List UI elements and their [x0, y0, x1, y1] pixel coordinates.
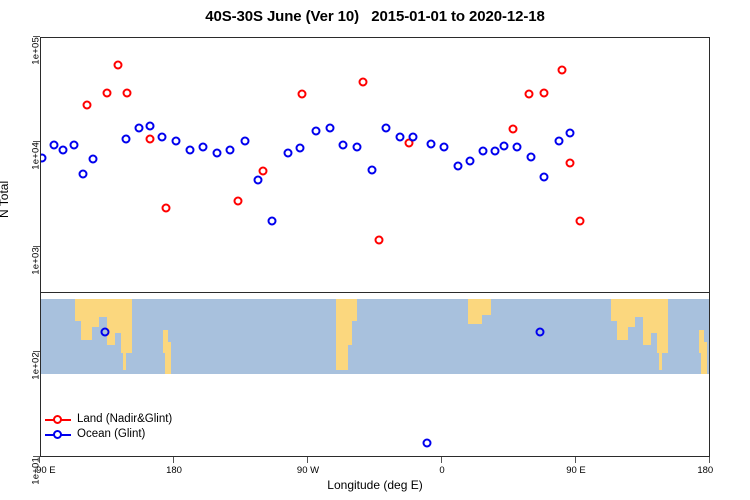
data-point-land: [565, 158, 574, 167]
data-point-ocean: [312, 127, 321, 136]
data-point-ocean: [465, 156, 474, 165]
x-tick-mark: [441, 457, 442, 463]
data-point-land: [297, 90, 306, 99]
data-point-land: [358, 78, 367, 87]
x-tick-label: 180: [166, 465, 182, 476]
landmass-shape: [165, 342, 171, 374]
data-point-land: [258, 167, 267, 176]
data-point-ocean: [157, 132, 166, 141]
data-point-ocean: [121, 134, 130, 143]
x-tick-label: 180: [697, 465, 713, 476]
x-tick-mark: [307, 457, 308, 463]
x-tick-label: 90 E: [36, 465, 56, 476]
legend-label-ocean: Ocean (Glint): [77, 427, 145, 442]
data-point-land: [233, 197, 242, 206]
x-tick-mark: [39, 457, 40, 463]
data-point-ocean: [555, 136, 564, 145]
data-point-ocean: [491, 147, 500, 156]
legend-marker-ocean-icon: [45, 428, 71, 441]
data-point-land: [83, 101, 92, 110]
coastline-map-strip: [41, 299, 710, 375]
landmass-shape: [701, 342, 707, 374]
page-title: 40S-30S June (Ver 10) 2015-01-01 to 2020…: [0, 8, 750, 25]
data-point-ocean: [40, 153, 47, 162]
data-point-ocean: [325, 123, 334, 132]
legend-label-land: Land (Nadir&Glint): [77, 412, 172, 427]
data-point-ocean: [59, 145, 68, 154]
data-point-ocean: [500, 141, 509, 150]
data-point-ocean: [296, 143, 305, 152]
data-point-ocean: [367, 166, 376, 175]
legend-item-ocean[interactable]: Ocean (Glint): [45, 427, 172, 442]
x-tick-mark: [575, 457, 576, 463]
plot-area: [40, 37, 710, 457]
landmass-shape: [473, 299, 491, 316]
data-point-ocean: [212, 149, 221, 158]
data-point-ocean: [101, 327, 110, 336]
data-point-land: [123, 88, 132, 97]
data-point-ocean: [382, 123, 391, 132]
data-point-land: [540, 88, 549, 97]
data-point-ocean: [422, 438, 431, 447]
x-tick-label: 0: [439, 465, 444, 476]
landmass-shape: [346, 299, 356, 322]
data-point-ocean: [427, 139, 436, 148]
data-point-ocean: [339, 141, 348, 150]
data-point-land: [558, 65, 567, 74]
data-point-ocean: [78, 169, 87, 178]
data-point-land: [162, 204, 171, 213]
data-point-ocean: [540, 173, 549, 182]
x-tick-mark: [173, 457, 174, 463]
data-point-ocean: [185, 146, 194, 155]
x-tick-mark: [709, 457, 710, 463]
y-axis-label: N Total: [0, 181, 11, 218]
data-point-ocean: [267, 217, 276, 226]
data-point-ocean: [526, 152, 535, 161]
data-point-land: [114, 61, 123, 70]
data-point-ocean: [440, 142, 449, 151]
data-point-ocean: [479, 147, 488, 156]
data-point-ocean: [395, 132, 404, 141]
landmass-shape: [659, 340, 662, 370]
chart-container: 40S-30S June (Ver 10) 2015-01-01 to 2020…: [0, 0, 750, 500]
data-point-ocean: [172, 136, 181, 145]
map-strip-divider: [41, 292, 710, 293]
legend: Land (Nadir&Glint) Ocean (Glint): [45, 412, 172, 442]
data-point-ocean: [254, 176, 263, 185]
legend-item-land[interactable]: Land (Nadir&Glint): [45, 412, 172, 427]
data-point-ocean: [513, 142, 522, 151]
data-point-land: [508, 125, 517, 134]
data-point-ocean: [145, 122, 154, 131]
data-point-land: [145, 134, 154, 143]
landmass-shape: [123, 340, 126, 370]
data-point-ocean: [565, 128, 574, 137]
data-point-land: [525, 90, 534, 99]
data-point-ocean: [453, 162, 462, 171]
x-tick-label: 90 E: [566, 465, 586, 476]
data-point-ocean: [69, 140, 78, 149]
data-point-ocean: [89, 155, 98, 164]
data-point-ocean: [226, 145, 235, 154]
x-axis-label: Longitude (deg E): [0, 478, 750, 492]
data-point-ocean: [50, 141, 59, 150]
data-point-ocean: [240, 136, 249, 145]
data-point-ocean: [135, 123, 144, 132]
legend-marker-land-icon: [45, 413, 71, 426]
data-point-land: [374, 235, 383, 244]
data-point-ocean: [199, 142, 208, 151]
data-point-land: [575, 217, 584, 226]
data-point-ocean: [535, 327, 544, 336]
data-point-land: [102, 88, 111, 97]
x-tick-label: 90 W: [297, 465, 319, 476]
data-point-ocean: [284, 149, 293, 158]
data-point-ocean: [352, 142, 361, 151]
data-point-ocean: [409, 132, 418, 141]
